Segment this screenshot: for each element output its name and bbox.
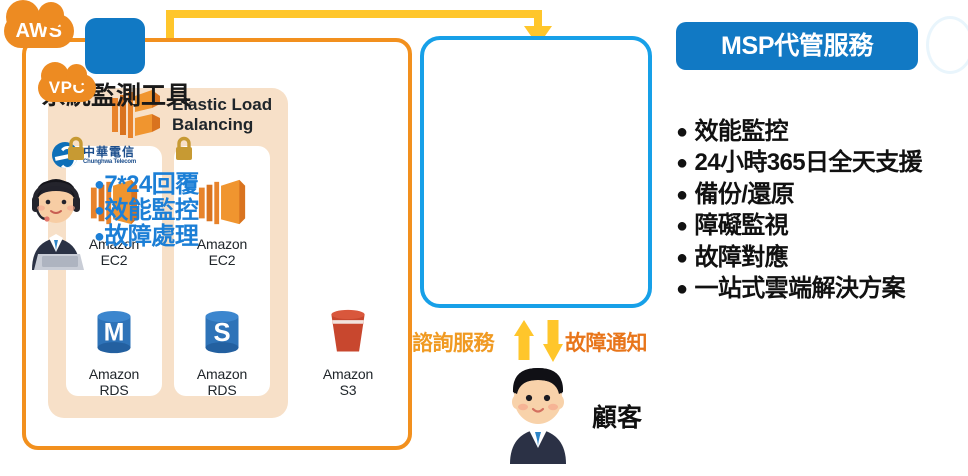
support-agent-icon [18, 176, 94, 270]
bullet-icon: ● [676, 121, 687, 143]
rds-sqlserver-line2: RDS [174, 383, 270, 399]
service-tile-s3: Amazon S3 [300, 302, 396, 398]
monitoring-feature-text: 7*24回覆 [104, 171, 198, 198]
monitoring-feature-list: ●7*24回覆 ●效能監控 ●故障處理 [94, 172, 226, 250]
monitoring-feature-text: 故障處理 [104, 223, 198, 250]
msp-item-text: 故障對應 [694, 244, 788, 271]
bullet-icon: ● [676, 215, 687, 237]
msp-list-item: ●效能監控 [676, 116, 966, 147]
customer-label: 顧客 [592, 398, 642, 434]
bullet-icon: ● [676, 152, 687, 174]
msp-item-text: 備份/還原 [694, 181, 794, 208]
s3-line2: S3 [300, 383, 396, 399]
rds-mysql-badge: M [104, 319, 125, 346]
monitoring-panel-title: 系統監測工具 [0, 76, 232, 112]
bullet-icon: ● [676, 247, 687, 269]
flow-label-consulting: 諮詢服務 [412, 327, 494, 357]
amazon-rds-mysql-icon: M [66, 302, 162, 364]
bullet-icon: ● [676, 278, 687, 300]
monitoring-feature-item: ●效能監控 [94, 198, 226, 224]
amazon-rds-sqlserver-icon: S [174, 302, 270, 364]
aws-cloud-label: AWS [4, 14, 74, 48]
arrow-up-icon [514, 320, 534, 336]
customer-person-icon [496, 360, 580, 464]
msp-list-item: ●障礙監視 [676, 210, 966, 241]
monitoring-feature-text: 效能監控 [104, 197, 198, 224]
decorative-circle [926, 16, 968, 74]
bullet-icon: ● [94, 174, 104, 194]
service-tile-rds-mysql: M Amazon RDS [66, 302, 162, 398]
vpc-cloud-label: VPC [38, 74, 96, 102]
bullet-icon: ● [94, 226, 104, 246]
flow-label-fault-notice: 故障通知 [565, 327, 647, 357]
msp-list-item: ●一站式雲端解決方案 [676, 273, 966, 304]
rds-sqlserver-badge: S [213, 319, 230, 347]
rds-sqlserver-line1: Amazon [174, 367, 270, 383]
rds-mysql-line2: RDS [66, 383, 162, 399]
service-tile-rds-sqlserver: S Amazon RDS [174, 302, 270, 398]
monitoring-feature-item: ●7*24回覆 [94, 172, 226, 198]
aws-cloud-text: AWS [4, 14, 74, 48]
s3-line1: Amazon [300, 367, 396, 383]
monitoring-panel [420, 36, 652, 308]
vpc-cloud-text: VPC [38, 74, 96, 102]
msp-list-item: ●24小時365日全天支援 [676, 147, 966, 178]
bullet-icon: ● [676, 184, 687, 206]
elb-label-line2: Balancing [172, 115, 302, 135]
diagram-canvas: AWS VPC Elastic Load Balancing [0, 0, 968, 476]
amazon-s3-bucket-icon [300, 302, 396, 364]
lock-icon [172, 136, 196, 162]
lock-icon [64, 136, 88, 162]
monitoring-tool-icon [85, 18, 145, 74]
msp-item-text: 效能監控 [694, 118, 788, 145]
msp-list-item: ●備份/還原 [676, 179, 966, 210]
msp-item-text: 障礙監視 [694, 212, 788, 239]
rds-mysql-line1: Amazon [66, 367, 162, 383]
msp-list-item: ●故障對應 [676, 242, 966, 273]
msp-badge: MSP代管服務 [676, 22, 918, 70]
chunghwa-name-cn: 中華電信 [83, 146, 136, 158]
msp-service-list: ●效能監控 ●24小時365日全天支援 ●備份/還原 ●障礙監視 ●故障對應 ●… [676, 116, 966, 305]
chunghwa-name-en: Chunghwa Telecom [83, 159, 136, 165]
monitoring-feature-item: ●故障處理 [94, 224, 226, 250]
bullet-icon: ● [94, 200, 104, 220]
ec2-right-line2: EC2 [174, 253, 270, 269]
msp-item-text: 24小時365日全天支援 [694, 149, 922, 176]
msp-item-text: 一站式雲端解決方案 [694, 275, 905, 302]
